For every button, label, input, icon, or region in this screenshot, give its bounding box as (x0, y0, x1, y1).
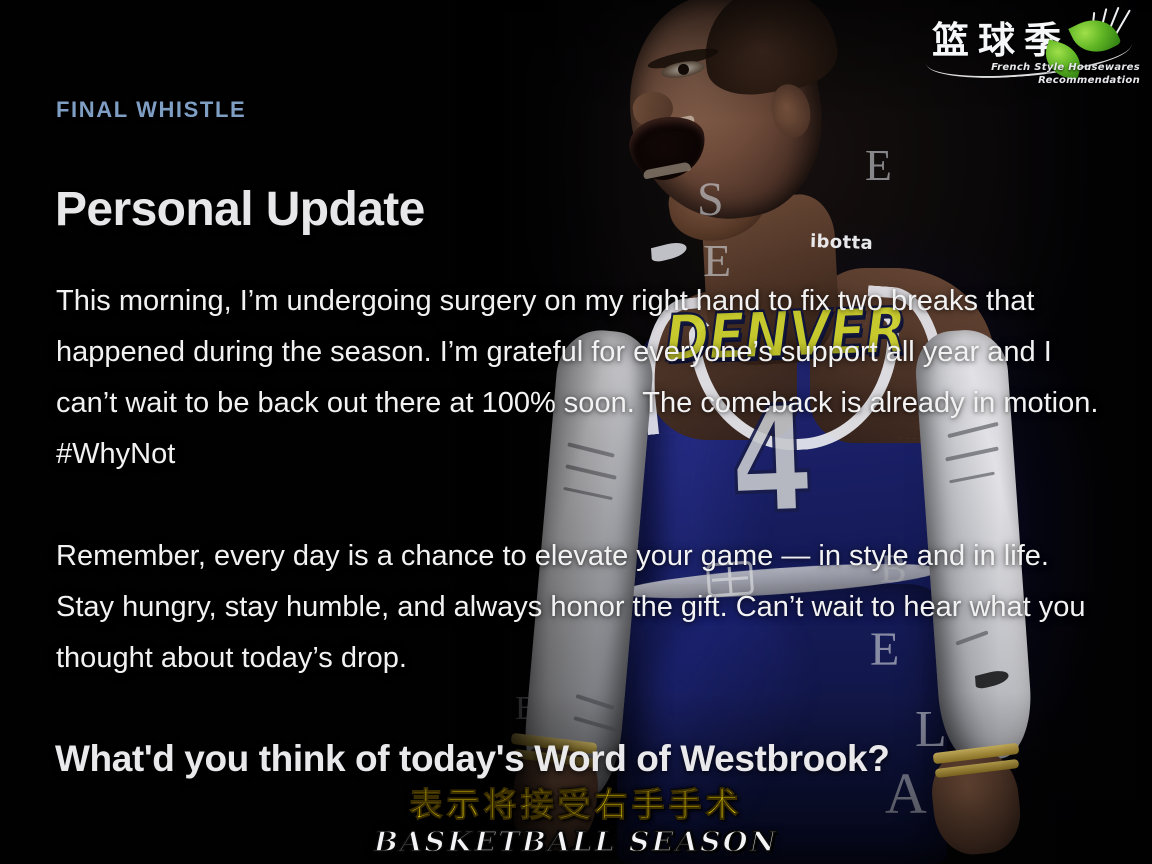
paragraph-2: Remember, every day is a chance to eleva… (56, 531, 1101, 684)
watermark-tagline: French Style Housewares Recommendation (991, 62, 1140, 88)
body-copy: This morning, I’m undergoing surgery on … (56, 276, 1101, 684)
watermark-tagline-line-1: French Style Housewares (991, 62, 1140, 75)
subtitle-block: 表示将接受右手手术 BASKETBALL SEASON (0, 786, 1152, 858)
text-overlay: FINAL WHISTLE Personal Update This morni… (0, 0, 1152, 864)
page-title: Personal Update (55, 182, 425, 237)
subtitle-brand: BASKETBALL SEASON (0, 827, 1152, 858)
subtitle-chinese: 表示将接受右手手术 (0, 786, 1152, 825)
video-frame: ibotta DENVER 4 E S E B E L A B (0, 0, 1152, 864)
paragraph-1: This morning, I’m undergoing surgery on … (56, 276, 1101, 480)
channel-watermark: 篮球季 French Style Housewares Recommendati… (926, 6, 1144, 90)
watermark-tagline-line-2: Recommendation (991, 75, 1140, 88)
kicker-label: FINAL WHISTLE (56, 97, 246, 123)
engagement-question: What'd you think of today's Word of West… (55, 738, 1125, 780)
